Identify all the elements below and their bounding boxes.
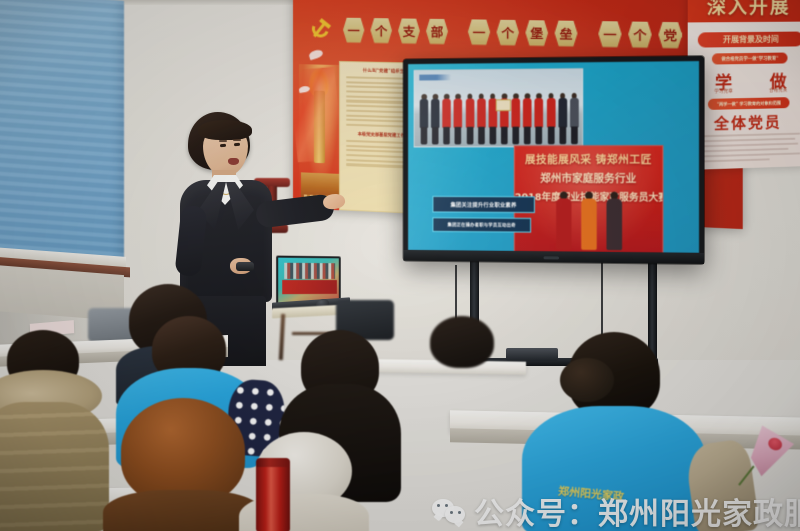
party-education-poster: 深入开展 开展背景及时间 做合格党员学一做"学习教育" 学 做 学习党章 合格党… [688,0,800,170]
red-thermos-bottle[interactable] [256,458,290,531]
banner-char: 支 [398,18,420,44]
attendee-head-behind-stand [430,316,494,368]
attendee-hair [121,398,245,504]
presenter-mouth [228,158,239,165]
banner-char: 垒 [555,20,578,47]
poster-small-label: 学习党章 [714,88,732,94]
award-plaque [496,99,511,111]
display-screen: 展技能展风采 铸郑州工匠 郑州市家庭服务行业 2018年度职业技能家政服务员大赛… [408,61,699,253]
banner-char: 个 [628,21,651,48]
slide-callout-box-2: 集团正在操办者职与学员互动出奇 [432,217,531,232]
poster-small-labels: 学习党章 合格党员 [696,87,800,95]
presenter-eye [220,144,226,147]
poster-members-text: 全体党员 [714,113,782,133]
poster-members-label: 全体党员 [688,111,800,135]
thermos-cap [256,458,290,467]
poster-body-text [697,133,800,166]
banner-char: 一 [598,21,621,48]
poster-small-label: 合格党员 [769,87,787,93]
poster-tag-secondary-text: "两学一做" 学习教育的对象和范围 [717,100,781,107]
banner-char: 一 [343,17,364,43]
slide-bottom-photo: 展技能展风采 铸郑州工匠 郑州市家庭服务行业 2018年度职业技能家政服务员大赛 [514,145,664,253]
hammer-and-sickle-icon [311,18,337,41]
stage-banner-line-2: 郑州市家庭服务行业 [515,170,663,186]
stage-person [578,192,599,251]
attendee-hair-bun [560,358,614,402]
banner-char: 个 [497,19,519,45]
slide-callout-box-1: 集团关注提升行业职业素养 [432,196,534,213]
slide-top-photo [414,68,583,147]
presenter-bangs [198,120,252,140]
poster-top-banner-text: 深入开展 [707,0,791,19]
wall-mounted-display[interactable]: 展技能展风采 铸郑州工匠 郑州市家庭服务行业 2018年度职业技能家政服务员大赛… [403,56,704,264]
presenter-eye [234,143,240,146]
banner-char: 堡 [525,20,548,46]
slide-callout-text-2: 集团正在操办者职与学员互动出奇 [447,222,515,228]
attendee-auburn-hair [108,398,258,531]
watermark-text: 公众号：郑州阳光家政服务公司 [474,489,800,531]
attendee-khaki-puffer [0,330,108,530]
wechat-icon [432,498,466,525]
stage-person [553,191,574,250]
stage-banner-line-1: 展技能展风采 铸郑州工匠 [515,151,663,167]
banner-char: 党 [658,21,682,48]
presenter-remote[interactable] [236,262,254,271]
award-group-row [418,89,580,145]
poster-section-pill: 开展背景及时间 [698,31,800,47]
poster-tag-secondary: "两学一做" 学习教育的对象和范围 [708,97,790,110]
banner-char: 部 [426,18,448,44]
photo-scene: 一 个 支 部 一 个 堡 垒 一 个 党 员 一 面 旗 帜 [0,0,800,531]
poster-top-banner: 深入开展 [688,0,800,22]
photo-logo [419,74,451,80]
stage-person [604,192,625,252]
banner-char: 个 [370,18,391,44]
attendee-puffer-coat [0,402,109,531]
watermark: 公众号：郑州阳光家政服务公司 [432,489,800,531]
poster-tag-text: 做合格党员学一做"学习教育" [721,55,778,62]
slide-callout-text-1: 集团关注提升行业职业素养 [451,200,517,208]
poster-banner: 一 个 支 部 一 个 堡 垒 一 个 党 员 一 面 旗 帜 [307,6,741,61]
blue-window-blind [0,0,124,269]
display-led-indicator [544,256,559,259]
poster-section-pill-text: 开展背景及时间 [723,34,779,46]
banner-char: 一 [468,19,490,45]
poster-tag: 做合格党员学一做"学习教育" [712,52,788,64]
